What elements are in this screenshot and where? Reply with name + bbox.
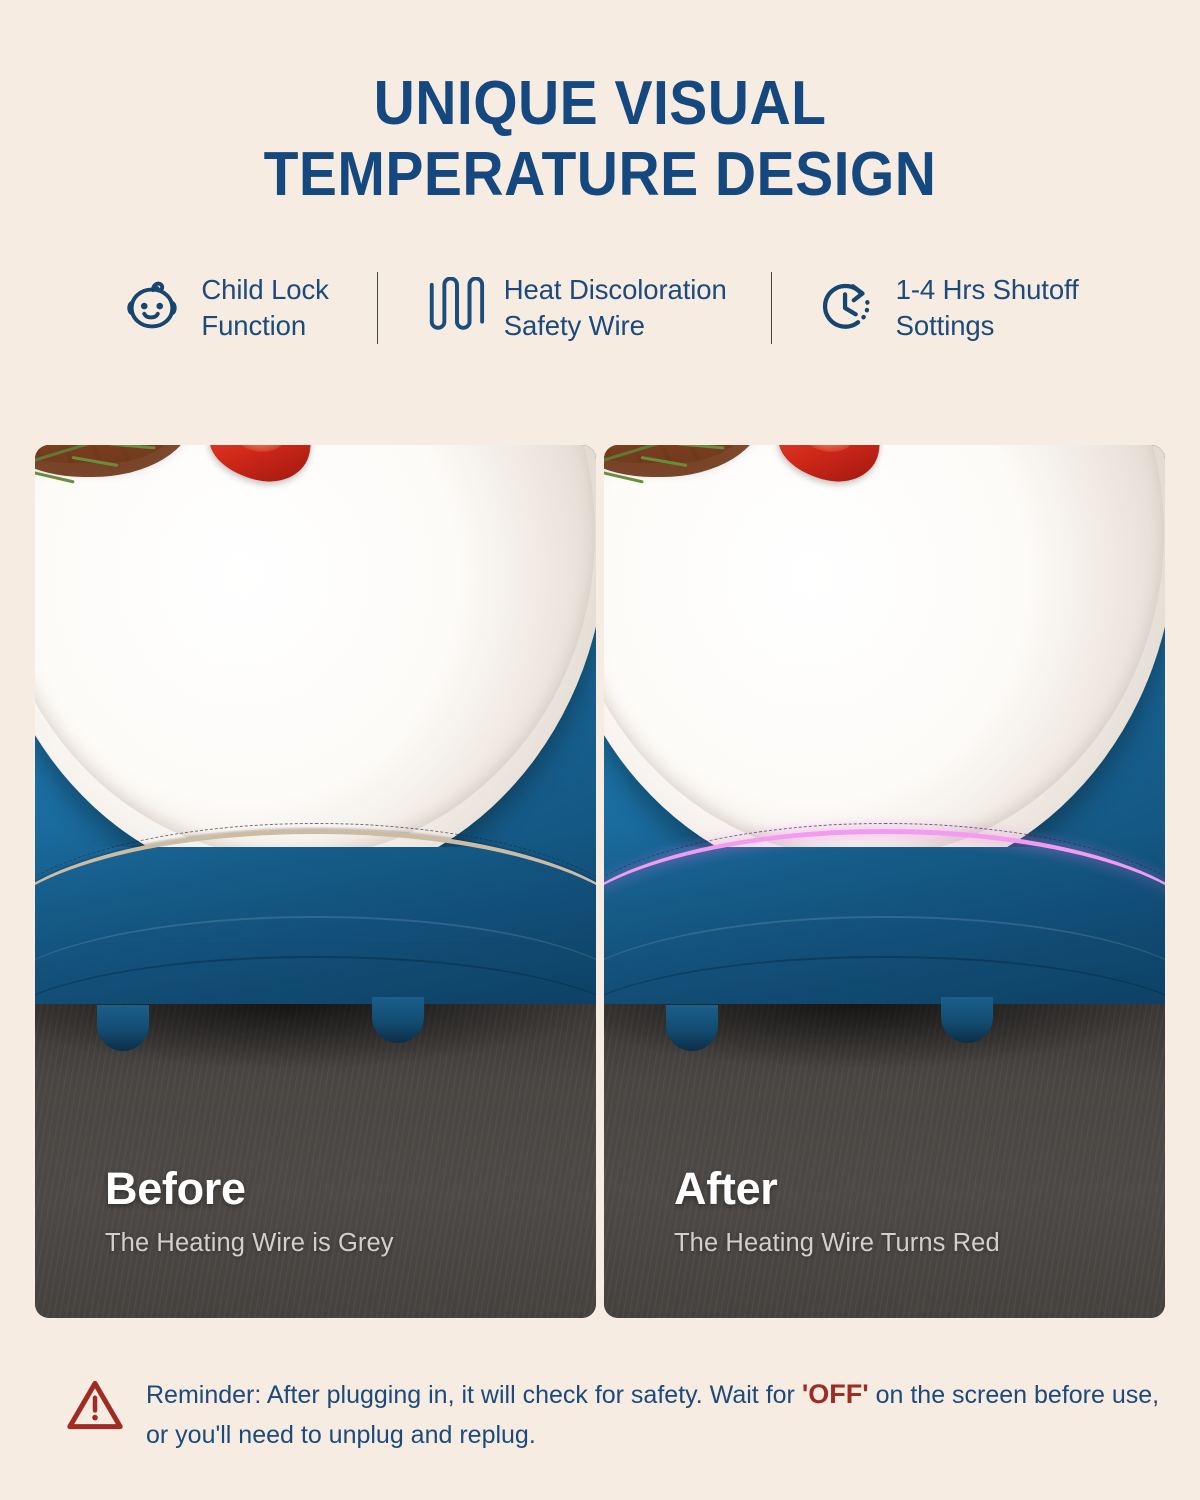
plate-rim-before	[35, 445, 595, 847]
feature-auto-shutoff-line-1: 1-4 Hrs Shutoff	[896, 274, 1079, 305]
rosemary-needle	[641, 456, 688, 467]
feature-auto-shutoff-label: 1-4 Hrs Shutoff Sottings	[896, 272, 1079, 342]
feature-list: Child Lock Function Heat Discoloration S…	[0, 272, 1200, 344]
reminder-text: Reminder: After plugging in, it will che…	[146, 1374, 1166, 1455]
feature-heat-discoloration-line-2: Safety Wire	[504, 308, 727, 343]
heating-wire-seam-before	[35, 823, 596, 936]
rosemary-needle	[35, 470, 76, 483]
panel-title-before: Before	[105, 1166, 394, 1211]
feature-heat-discoloration-label: Heat Discoloration Safety Wire	[504, 272, 727, 342]
feature-heat-discoloration-line-1: Heat Discoloration	[504, 274, 727, 305]
rosemary-needle	[109, 445, 157, 449]
rosemary-needle	[604, 470, 645, 483]
food-plate-after	[604, 445, 1165, 847]
reminder-highlight-off: 'OFF'	[802, 1379, 869, 1409]
panel-subtitle-before: The Heating Wire is Grey	[105, 1231, 394, 1257]
comparison-panels: Before The Heating Wire is Grey	[35, 445, 1165, 1318]
feature-divider-2	[771, 272, 772, 344]
cooker-foot-right-before	[372, 997, 424, 1043]
page-title-line-2: TEMPERATURE DESIGN	[48, 145, 1152, 206]
plate-after	[604, 445, 1165, 847]
rosemary-needle	[72, 456, 119, 467]
feature-child-lock-line-2: Function	[201, 308, 328, 343]
panel-title-after: After	[674, 1166, 1000, 1211]
floor-surface-after	[604, 1004, 1165, 1318]
reminder-note: Reminder: After plugging in, it will che…	[66, 1374, 1166, 1455]
plate-rim-after	[604, 445, 1164, 847]
food-plate-before	[35, 445, 596, 847]
heating-wire-after	[604, 829, 1165, 942]
heating-wire-seam-after	[604, 823, 1165, 936]
feature-child-lock-label: Child Lock Function	[201, 272, 328, 342]
rosemary-needle	[678, 445, 726, 449]
reminder-text-before: Reminder: After plugging in, it will che…	[146, 1381, 802, 1409]
heating-coil-icon	[424, 277, 486, 339]
panel-before: Before The Heating Wire is Grey	[35, 445, 596, 1318]
heating-wire-before	[35, 829, 596, 942]
floor-surface-before	[35, 1004, 596, 1318]
feature-auto-shutoff-line-2: Sottings	[896, 308, 1079, 343]
panel-subtitle-after: The Heating Wire Turns Red	[674, 1231, 1000, 1257]
feature-child-lock: Child Lock Function	[121, 272, 328, 342]
feature-child-lock-line-1: Child Lock	[201, 274, 328, 305]
feature-heat-discoloration: Heat Discoloration Safety Wire	[424, 272, 727, 342]
clock-timer-icon	[816, 277, 878, 339]
feature-divider-1	[377, 272, 378, 344]
plate-before	[35, 445, 596, 847]
panel-after: After The Heating Wire Turns Red	[604, 445, 1165, 1318]
cooker-foot-right-after	[941, 997, 993, 1043]
feature-auto-shutoff: 1-4 Hrs Shutoff Sottings	[816, 272, 1079, 342]
page-title-line-1: UNIQUE VISUAL	[48, 74, 1152, 135]
panel-caption-after: After The Heating Wire Turns Red	[674, 1166, 1000, 1257]
warning-triangle-icon	[66, 1378, 124, 1432]
baby-face-icon	[121, 277, 183, 339]
panel-caption-before: Before The Heating Wire is Grey	[105, 1166, 394, 1257]
page-title: UNIQUE VISUAL TEMPERATURE DESIGN	[48, 0, 1152, 206]
